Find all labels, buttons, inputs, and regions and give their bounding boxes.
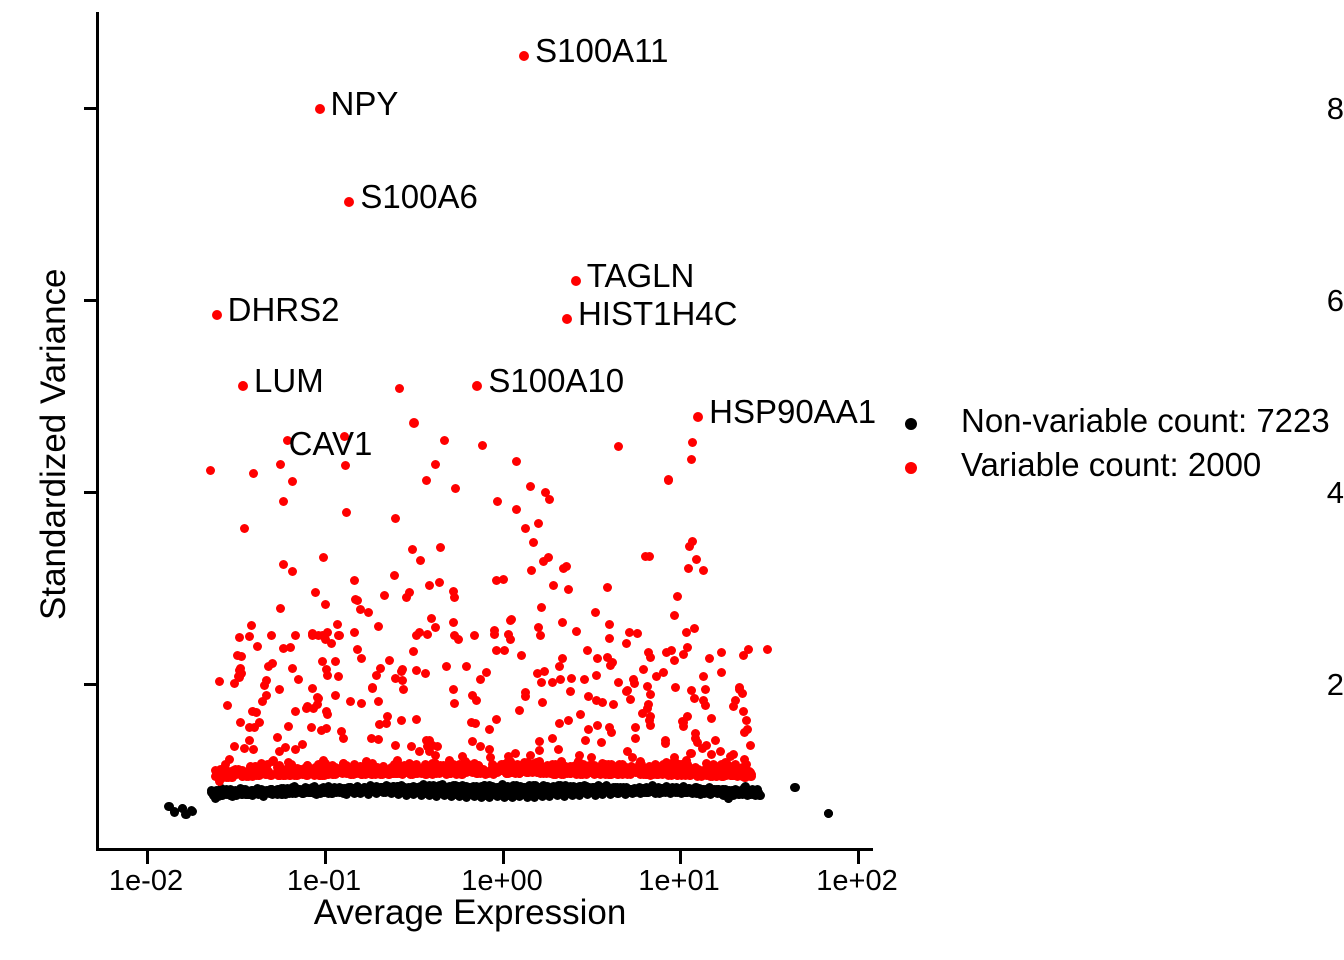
data-point-variable <box>535 737 544 746</box>
data-point-variable <box>711 736 720 745</box>
data-point-variable <box>279 497 288 506</box>
data-point-variable <box>639 665 648 674</box>
y-tick-label-6: 6 <box>1272 285 1344 316</box>
data-point-variable <box>262 691 271 700</box>
data-point-variable <box>584 725 593 734</box>
data-point-variable <box>313 700 322 709</box>
data-point-variable <box>421 669 430 678</box>
data-point-non-variable <box>791 783 800 792</box>
data-point-variable <box>614 442 623 451</box>
data-point-variable <box>391 741 400 750</box>
legend-marker-variable-icon <box>905 462 917 474</box>
data-point-variable <box>526 482 535 491</box>
data-point-variable <box>572 627 581 636</box>
data-point-variable <box>468 691 477 700</box>
data-point-non-variable <box>365 785 374 794</box>
data-point-non-variable <box>693 786 702 795</box>
data-point-variable <box>339 759 348 768</box>
data-point-variable <box>609 700 618 709</box>
data-point-non-variable <box>297 787 306 796</box>
data-point-variable <box>385 656 394 665</box>
data-point-non-variable <box>308 783 317 792</box>
data-point-variable <box>249 469 258 478</box>
data-point-variable <box>549 581 558 590</box>
data-point-variable <box>390 571 399 580</box>
data-point-variable <box>739 707 748 716</box>
data-point-variable <box>279 560 288 569</box>
data-point-variable <box>622 687 631 696</box>
data-point-variable <box>661 736 670 745</box>
data-point-variable <box>245 632 254 641</box>
data-point-variable <box>521 692 530 701</box>
data-point-variable <box>717 668 726 677</box>
data-point-variable <box>308 684 317 693</box>
data-point-variable <box>687 455 696 464</box>
data-point-variable <box>395 384 404 393</box>
data-point-variable <box>593 721 602 730</box>
data-point-non-variable <box>440 786 449 795</box>
data-point-variable <box>692 555 701 564</box>
data-point-variable <box>735 683 744 692</box>
data-point-variable <box>702 741 711 750</box>
data-point-variable <box>470 631 479 640</box>
data-point-variable <box>215 677 224 686</box>
data-point-variable <box>492 576 501 585</box>
data-point-variable <box>372 671 381 680</box>
data-point-variable <box>374 622 383 631</box>
data-point-variable <box>393 766 402 775</box>
data-point-variable <box>225 755 234 764</box>
data-point-variable <box>538 698 547 707</box>
data-point-variable <box>605 620 614 629</box>
data-point-variable <box>670 656 679 665</box>
data-point-variable <box>349 770 358 779</box>
data-point-variable <box>307 723 316 732</box>
data-point-variable <box>373 765 382 774</box>
data-point-annotated-dhrs2 <box>212 310 222 320</box>
data-point-variable <box>264 662 273 671</box>
data-point-variable <box>701 685 710 694</box>
data-point-variable <box>334 631 343 640</box>
data-point-variable <box>699 672 708 681</box>
data-point-non-variable <box>429 785 438 794</box>
data-point-variable <box>490 630 499 639</box>
data-point-variable <box>566 687 575 696</box>
data-point-variable <box>731 760 740 769</box>
data-point-variable <box>422 736 431 745</box>
gene-label-cav1: CAV1 <box>289 427 373 460</box>
data-point-variable <box>260 681 269 690</box>
data-point-variable <box>267 631 276 640</box>
data-point-variable <box>659 668 668 677</box>
data-point-variable <box>512 457 521 466</box>
data-point-variable <box>537 678 546 687</box>
data-point-variable <box>717 648 726 657</box>
data-point-variable <box>253 642 262 651</box>
data-point-variable <box>311 588 320 597</box>
data-point-non-variable <box>380 785 389 794</box>
data-point-variable <box>597 738 606 747</box>
data-point-variable <box>555 662 564 671</box>
data-point-non-variable <box>188 807 197 816</box>
gene-label-s100a6: S100A6 <box>360 180 477 213</box>
data-point-variable <box>746 741 755 750</box>
data-point-variable <box>482 668 491 677</box>
data-point-variable <box>383 712 392 721</box>
data-point-variable <box>564 716 573 725</box>
data-point-variable <box>685 542 694 551</box>
data-point-variable <box>449 587 458 596</box>
data-point-non-variable <box>251 787 260 796</box>
data-point-variable <box>506 616 515 625</box>
data-point-variable <box>567 674 576 683</box>
data-point-variable <box>397 716 406 725</box>
data-point-variable <box>275 685 284 694</box>
data-point-variable <box>493 497 502 506</box>
data-point-variable <box>483 768 492 777</box>
data-point-variable <box>580 675 589 684</box>
data-point-variable <box>353 645 362 654</box>
data-point-variable <box>275 747 284 756</box>
data-point-variable <box>374 697 383 706</box>
data-point-variable <box>716 747 725 756</box>
data-point-variable <box>662 648 671 657</box>
data-point-variable <box>323 671 332 680</box>
scatter-plot-area: S100A11NPYS100A6TAGLNHIST1H4CDHRS2LUMS10… <box>0 0 940 880</box>
data-point-variable <box>646 690 655 699</box>
data-point-variable <box>717 771 726 780</box>
data-point-variable <box>555 719 564 728</box>
data-point-variable <box>643 704 652 713</box>
legend-item-non-variable[interactable]: Non-variable count: 7223 <box>905 402 1335 446</box>
data-point-variable <box>458 752 467 761</box>
data-point-variable <box>451 484 460 493</box>
data-point-annotated-hist1h4c <box>562 314 572 324</box>
data-point-variable <box>206 466 215 475</box>
data-point-variable <box>319 553 328 562</box>
data-point-variable <box>622 639 631 648</box>
data-point-variable <box>564 585 573 594</box>
data-point-variable <box>399 685 408 694</box>
data-point-variable <box>398 665 407 674</box>
data-point-annotated-tagln <box>571 276 581 286</box>
data-point-variable <box>296 766 305 775</box>
data-point-variable <box>273 733 282 742</box>
data-point-variable <box>350 628 359 637</box>
data-point-variable <box>684 564 693 573</box>
legend: Non-variable count: 7223 Variable count:… <box>905 402 1335 490</box>
data-point-variable <box>408 545 417 554</box>
data-point-variable <box>664 476 673 485</box>
data-point-variable <box>511 749 520 758</box>
data-point-variable <box>405 588 414 597</box>
data-point-annotated-s100a11 <box>519 51 529 61</box>
data-point-variable <box>411 766 420 775</box>
data-point-variable <box>699 566 708 575</box>
data-point-variable <box>576 710 585 719</box>
data-point-variable <box>556 675 565 684</box>
data-point-variable <box>562 562 571 571</box>
data-point-variable <box>605 634 614 643</box>
data-point-variable <box>623 770 632 779</box>
data-point-variable <box>431 460 440 469</box>
data-point-variable <box>548 734 557 743</box>
data-point-variable <box>449 618 458 627</box>
y-tick-label-2: 2 <box>1272 669 1344 700</box>
data-point-non-variable <box>756 791 765 800</box>
data-point-variable <box>631 734 640 743</box>
data-point-variable <box>237 652 246 661</box>
data-point-variable <box>705 654 714 663</box>
data-point-variable <box>255 718 264 727</box>
data-point-variable <box>534 519 543 528</box>
data-point-non-variable <box>626 787 635 796</box>
data-point-variable <box>462 662 471 671</box>
data-point-variable <box>646 712 655 721</box>
data-point-variable <box>415 747 424 756</box>
data-point-variable <box>284 722 293 731</box>
data-point-variable <box>341 461 350 470</box>
data-point-annotated-hsp90aa1 <box>693 412 703 422</box>
data-point-variable <box>245 736 254 745</box>
data-point-variable <box>321 600 330 609</box>
legend-label-non-variable: Non-variable count: 7223 <box>961 404 1330 437</box>
gene-label-s100a11: S100A11 <box>535 34 668 67</box>
data-point-variable <box>323 710 332 719</box>
data-point-variable <box>536 631 545 640</box>
gene-label-tagln: TAGLN <box>587 259 695 292</box>
data-point-variable <box>422 476 431 485</box>
data-point-non-variable <box>588 786 597 795</box>
data-point-variable <box>691 729 700 738</box>
data-point-variable <box>615 760 624 769</box>
data-point-variable <box>342 508 351 517</box>
data-point-variable <box>500 760 509 769</box>
data-point-non-variable <box>724 794 733 803</box>
data-point-variable <box>671 683 680 692</box>
data-point-non-variable <box>260 787 269 796</box>
data-point-variable <box>291 631 300 640</box>
data-point-variable <box>357 699 366 708</box>
legend-item-variable[interactable]: Variable count: 2000 <box>905 446 1335 490</box>
data-point-non-variable <box>824 809 833 818</box>
data-point-variable <box>318 631 327 640</box>
data-point-variable <box>688 438 697 447</box>
data-point-variable <box>276 604 285 613</box>
data-point-variable <box>537 603 546 612</box>
gene-label-hist1h4c: HIST1H4C <box>578 297 738 330</box>
data-point-variable <box>581 736 590 745</box>
data-point-variable <box>742 716 751 725</box>
data-point-non-variable <box>493 783 502 792</box>
data-point-variable <box>603 583 612 592</box>
data-point-variable <box>558 618 567 627</box>
data-point-variable <box>645 552 654 561</box>
data-point-variable <box>449 685 458 694</box>
y-tick-label-8: 8 <box>1272 93 1344 124</box>
x-axis-title: Average Expression <box>0 893 940 933</box>
data-point-variable <box>454 635 463 644</box>
data-point-variable <box>409 647 418 656</box>
data-point-variable <box>364 608 373 617</box>
data-point-variable <box>235 673 244 682</box>
data-point-variable <box>515 706 524 715</box>
data-point-variable <box>591 608 600 617</box>
data-point-variable <box>682 756 691 765</box>
data-point-variable <box>380 591 389 600</box>
legend-label-variable: Variable count: 2000 <box>961 448 1261 481</box>
data-point-variable <box>631 723 640 732</box>
data-point-variable <box>690 624 699 633</box>
data-point-variable <box>425 581 434 590</box>
gene-label-hsp90aa1: HSP90AA1 <box>709 395 876 428</box>
gene-label-npy: NPY <box>331 87 399 120</box>
data-point-variable <box>446 769 455 778</box>
data-point-variable <box>683 712 692 721</box>
data-point-variable <box>450 699 459 708</box>
gene-label-dhrs2: DHRS2 <box>228 293 340 326</box>
data-point-variable <box>314 760 323 769</box>
data-point-variable <box>249 745 258 754</box>
data-point-variable <box>228 773 237 782</box>
data-point-non-variable <box>236 788 245 797</box>
data-point-variable <box>415 628 424 637</box>
data-point-variable <box>540 667 549 676</box>
data-point-variable <box>739 651 748 660</box>
data-point-variable <box>351 595 360 604</box>
data-point-variable <box>331 691 340 700</box>
data-point-variable <box>442 662 451 671</box>
data-point-variable <box>575 760 584 769</box>
data-point-variable <box>707 750 716 759</box>
data-point-variable <box>223 701 232 710</box>
data-point-variable <box>592 671 601 680</box>
data-point-variable <box>375 720 384 729</box>
legend-marker-nonvariable-icon <box>905 418 917 430</box>
data-point-annotated-lum <box>238 381 248 391</box>
data-point-variable <box>448 760 457 769</box>
data-point-variable <box>478 441 487 450</box>
data-point-variable <box>544 553 553 562</box>
data-point-variable <box>729 750 738 759</box>
data-point-variable <box>288 664 297 673</box>
data-point-variable <box>476 742 485 751</box>
data-point-variable <box>391 514 400 523</box>
data-point-variable <box>318 657 327 666</box>
data-point-variable <box>433 742 442 751</box>
data-point-variable <box>333 620 342 629</box>
data-point-non-variable <box>330 786 339 795</box>
data-point-variable <box>346 697 355 706</box>
data-point-variable <box>294 675 303 684</box>
data-point-variable <box>357 654 366 663</box>
data-point-variable <box>288 477 297 486</box>
gene-label-s100a10: S100A10 <box>488 364 624 397</box>
data-point-variable <box>626 695 635 704</box>
data-point-variable <box>431 623 440 632</box>
data-point-variable <box>598 759 607 768</box>
data-point-variable <box>535 746 544 755</box>
data-point-variable <box>607 728 616 737</box>
data-point-variable <box>339 734 348 743</box>
variable-features-scatter-plot: 8 6 4 2 1e-02 1e-01 1e+00 1e+01 1e+02 Av… <box>0 0 1344 960</box>
data-point-variable <box>673 592 682 601</box>
data-point-variable <box>286 643 295 652</box>
data-point-variable <box>248 707 257 716</box>
data-point-variable <box>436 543 445 552</box>
data-point-variable <box>435 578 444 587</box>
data-point-variable <box>517 651 526 660</box>
data-point-variable <box>554 745 563 754</box>
data-point-variable <box>583 646 592 655</box>
gene-label-lum: LUM <box>254 364 324 397</box>
data-point-annotated-s100a10 <box>472 381 482 391</box>
data-point-variable <box>247 621 256 630</box>
data-point-variable <box>317 726 326 735</box>
data-point-variable <box>230 742 239 751</box>
data-point-variable <box>678 769 687 778</box>
data-point-non-variable <box>215 789 224 798</box>
data-point-variable <box>416 556 425 565</box>
data-point-variable <box>332 769 341 778</box>
data-point-variable <box>504 630 513 639</box>
data-point-variable <box>407 742 416 751</box>
data-point-annotated-s100a6 <box>344 197 354 207</box>
data-point-non-variable <box>707 786 716 795</box>
data-point-variable <box>471 719 480 728</box>
data-point-variable <box>235 766 244 775</box>
data-point-variable <box>670 611 679 620</box>
data-point-variable <box>427 614 436 623</box>
data-point-variable <box>763 645 772 654</box>
data-point-variable <box>690 694 699 703</box>
data-point-variable <box>521 524 530 533</box>
data-point-variable <box>606 661 615 670</box>
data-point-variable <box>500 646 509 655</box>
data-point-variable <box>288 567 297 576</box>
data-point-variable <box>240 524 249 533</box>
data-point-variable <box>729 702 738 711</box>
data-point-variable <box>331 657 340 666</box>
data-point-variable <box>593 654 602 663</box>
data-point-variable <box>423 630 432 639</box>
data-point-variable <box>529 538 538 547</box>
data-point-variable <box>686 771 695 780</box>
data-point-variable <box>683 643 692 652</box>
data-point-non-variable <box>648 786 657 795</box>
data-point-variable <box>215 777 224 786</box>
data-point-variable <box>334 672 343 681</box>
data-point-variable <box>412 715 421 724</box>
data-point-variable <box>527 566 536 575</box>
data-point-non-variable <box>741 782 750 791</box>
data-point-variable <box>276 460 285 469</box>
data-point-variable <box>633 629 642 638</box>
data-point-annotated-cav1 <box>409 418 419 428</box>
data-point-variable <box>512 505 521 514</box>
data-point-variable <box>350 576 359 585</box>
data-point-variable <box>707 714 716 723</box>
data-point-non-variable <box>412 785 421 794</box>
data-point-variable <box>485 725 494 734</box>
data-point-variable <box>743 725 752 734</box>
data-point-variable <box>235 633 244 642</box>
data-point-variable <box>368 684 377 693</box>
data-point-non-variable <box>277 790 286 799</box>
data-point-variable <box>520 758 529 767</box>
data-point-variable <box>298 740 307 749</box>
data-point-variable <box>440 436 449 445</box>
